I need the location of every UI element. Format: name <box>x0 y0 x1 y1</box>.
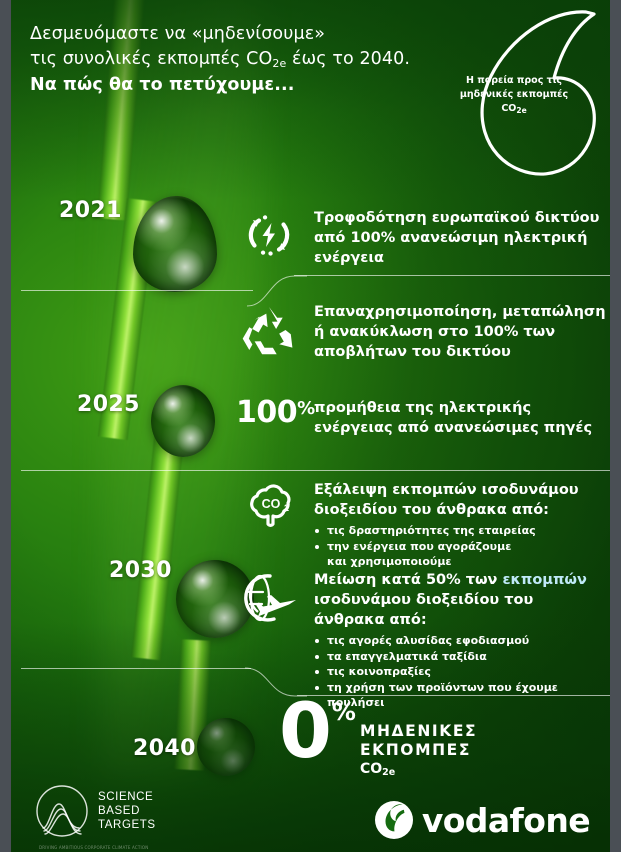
list-item: την ενέργεια που αγοράζουμε <box>314 539 608 555</box>
science-based-targets-logo: SCIENCE BASED TARGETS <box>35 784 156 838</box>
milestone-text-100-percent: προμήθεια της ηλεκτρικής ενέργειας από α… <box>302 398 608 438</box>
headline-line-3: Να πώς θα το πετύχουμε... <box>30 73 450 98</box>
milestone-text-recycle: Επαναχρησιμοποίηση, μεταπώληση ή ανακύκλ… <box>302 302 608 362</box>
milestone-row-recycle: Επαναχρησιμοποίηση, μεταπώληση ή ανακύκλ… <box>236 302 608 362</box>
year-label-2030: 2030 <box>109 558 172 583</box>
co2-cloud-icon: CO 2 <box>236 480 302 534</box>
zero-emissions-label: ΜΗΔΕΝΙΚΕΣ ΕΚΠΟΜΠΕΣ CO2e <box>360 722 477 780</box>
milestone-row-100-percent: 100% προμήθεια της ηλεκτρικής ενέργειας … <box>236 398 608 438</box>
zero-percent-sign: % <box>332 698 356 726</box>
sbt-fine-print: DRIVING AMBITIOUS CORPORATE CLIMATE ACTI… <box>39 845 148 850</box>
co2e-subscript: 2e <box>516 106 526 115</box>
sbt-line-2: BASED <box>98 804 156 818</box>
headline-line-1: Δεσμευόμαστε να «μηδενίσουμε» <box>30 22 450 47</box>
badge-number: 100 <box>236 395 297 430</box>
co2-text: CO <box>360 761 382 777</box>
svg-text:2: 2 <box>284 503 289 513</box>
divider-2025-2030 <box>21 470 610 471</box>
zero-label-line-2: ΕΚΠΟΜΠΕΣ <box>360 741 477 760</box>
milestone-text-co2-elimination: Εξάλειψη εκπομπών ισοδυνάμου διοξειδίου … <box>314 480 608 520</box>
badge-100-percent: 100% <box>236 398 302 428</box>
speechmark-caption-line-1: Η πορεία προς τις <box>446 74 582 88</box>
sbt-line-3: TARGETS <box>98 818 156 832</box>
badge-percent-sign: % <box>297 398 315 419</box>
recycle-icon <box>236 302 302 358</box>
sbt-mark-icon <box>35 784 89 838</box>
year-label-2021: 2021 <box>59 198 122 223</box>
sbt-wordmark: SCIENCE BASED TARGETS <box>98 790 156 832</box>
co2e-subscript: 2e <box>382 767 395 778</box>
globe-plane-icon <box>236 570 302 624</box>
speechmark-caption-line-2: μηδενικές εκπομπές CO2e <box>446 88 582 116</box>
list-item: τις αγορές αλυσίδας εφοδιασμού <box>314 633 608 649</box>
co2e-subscript: 2e <box>272 57 286 70</box>
list-item: και χρησιμοποιούμε <box>314 554 608 570</box>
text-pre: Μείωση κατά 50% των <box>314 572 502 588</box>
milestone-text-renewable-energy: Τροφοδότηση ευρωπαϊκού δικτύου από 100% … <box>302 208 608 268</box>
divider-2021-2025-right <box>294 275 610 276</box>
milestone-row-co2-elimination: CO 2 Εξάλειψη εκπομπών ισοδυνάμου διοξει… <box>236 480 608 570</box>
list-item: τις δραστηριότητες της εταιρείας <box>314 523 608 539</box>
zero-number: 0 <box>279 700 330 762</box>
milestone-text-emissions-reduction: Μείωση κατά 50% των εκπομπών ισοδυνάμου … <box>314 570 608 630</box>
sbt-line-1: SCIENCE <box>98 790 156 804</box>
infographic-poster: Δεσμευόμαστε να «μηδενίσουμε» τις συνολι… <box>11 0 610 852</box>
highlighted-term: εκπομπών <box>502 572 586 588</box>
year-label-2025: 2025 <box>77 392 140 417</box>
list-item: τις κοινοπραξίες <box>314 664 608 680</box>
speechmark-caption: Η πορεία προς τις μηδενικές εκπομπές CO2… <box>446 74 582 116</box>
header-block: Δεσμευόμαστε να «μηδενίσουμε» τις συνολι… <box>30 22 450 98</box>
zero-label-line-1: ΜΗΔΕΝΙΚΕΣ <box>360 722 477 741</box>
year-label-2040: 2040 <box>133 736 196 761</box>
vodafone-logo: vodafone <box>374 800 590 840</box>
speechmark-caption-line-2-text: μηδενικές εκπομπές CO <box>460 89 568 114</box>
renewable-energy-icon <box>236 208 302 260</box>
zero-emissions-block: 0 % ΜΗΔΕΝΙΚΕΣ ΕΚΠΟΜΠΕΣ CO2e <box>279 700 477 780</box>
headline-line-2-text: τις συνολικές εκπομπές CO <box>30 49 272 69</box>
zero-label-co2e: CO2e <box>360 760 477 780</box>
headline-line-2: τις συνολικές εκπομπές CO2e έως το 2040. <box>30 47 450 73</box>
text-post: ισοδυνάμου διοξειδίου του άνθρακα από: <box>314 592 533 628</box>
vodafone-speechmark-icon <box>374 800 414 840</box>
list-item: τα επαγγελματικά ταξίδια <box>314 649 608 665</box>
milestone-row-renewable-energy: Τροφοδότηση ευρωπαϊκού δικτύου από 100% … <box>236 208 608 268</box>
headline-line-2-tail: έως το 2040. <box>286 49 410 69</box>
bullet-list-co2-elimination: τις δραστηριότητες της εταιρείας την ενέ… <box>314 523 608 570</box>
bullet-list-emissions-reduction: τις αγορές αλυσίδας εφοδιασμού τα επαγγε… <box>314 633 608 711</box>
svg-text:CO: CO <box>262 497 281 511</box>
divider-2030-2040-left <box>21 668 251 669</box>
divider-2021-2025-left <box>21 290 253 291</box>
vodafone-wordmark: vodafone <box>422 801 590 840</box>
